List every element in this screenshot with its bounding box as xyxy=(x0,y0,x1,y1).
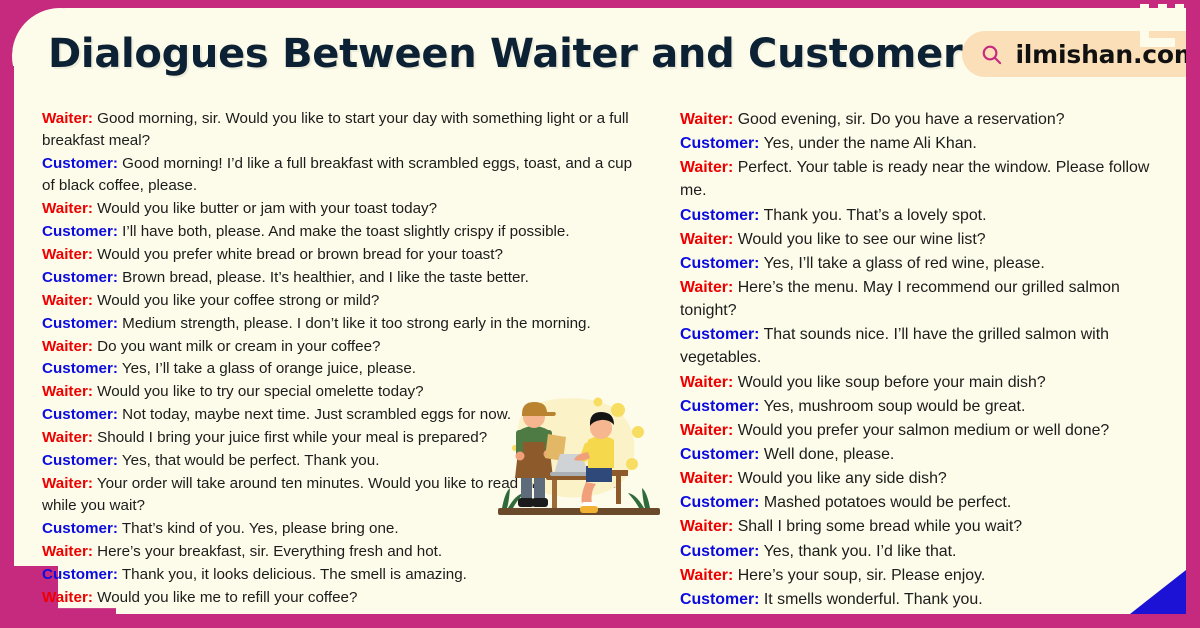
speaker-label-waiter: Waiter: xyxy=(42,292,93,309)
speaker-label-customer: Customer: xyxy=(42,155,118,172)
speaker-label-customer: Customer: xyxy=(42,223,118,240)
dialogue-line: Waiter: Would you prefer white bread or … xyxy=(42,244,640,266)
speaker-label-customer: Customer: xyxy=(680,255,759,272)
speaker-label-waiter: Waiter: xyxy=(42,246,93,263)
dialogue-line: Waiter: Would you like any side dish? xyxy=(680,467,1174,490)
dialogue-column-right: Waiter: Good evening, sir. Do you have a… xyxy=(650,100,1186,614)
dialogue-text: Yes, I’ll take a glass of red wine, plea… xyxy=(759,255,1044,272)
speaker-label-customer: Customer: xyxy=(680,398,759,415)
dialogue-line: Waiter: Would you like to see our wine l… xyxy=(680,228,1174,251)
dialogue-line: Customer: Brown bread, please. It’s heal… xyxy=(42,267,640,289)
dialogue-text: Perfect. Your table is ready near the wi… xyxy=(680,159,1149,199)
dialogue-line: Customer: I’ll have both, please. And ma… xyxy=(42,221,640,243)
dialogue-line: Customer: That sounds nice. I’ll have th… xyxy=(680,323,1174,369)
dialogue-line: Customer: That’s kind of you. Yes, pleas… xyxy=(42,518,640,540)
dialogue-text: Shall I bring some bread while you wait? xyxy=(733,518,1022,535)
dialogue-line: Customer: Yes, I’ll take a glass of red … xyxy=(680,252,1174,275)
dialogue-line: Customer: Mashed potatoes would be perfe… xyxy=(680,491,1174,514)
dialogue-text: Would you like soup before your main dis… xyxy=(733,374,1045,391)
speaker-label-customer: Customer: xyxy=(42,406,118,423)
speaker-label-waiter: Waiter: xyxy=(680,279,733,296)
dialogue-line: Customer: Thank you. That’s a lovely spo… xyxy=(680,204,1174,227)
ilmishan-logo-icon[interactable] xyxy=(1134,2,1192,54)
dialogue-text: Yes, I’ll take a glass of orange juice, … xyxy=(118,360,416,377)
dialogue-line: Waiter: Do you want milk or cream in you… xyxy=(42,336,640,358)
speaker-label-waiter: Waiter: xyxy=(680,518,733,535)
speaker-label-customer: Customer: xyxy=(42,566,118,583)
speaker-label-customer: Customer: xyxy=(680,494,759,511)
dialogue-text: Should I bring your juice first while yo… xyxy=(93,429,487,446)
dialogue-line: Customer: Yes, thank you. I’d like that. xyxy=(680,540,1174,563)
dialogue-line: Waiter: Should I bring your juice first … xyxy=(42,427,640,449)
speaker-label-customer: Customer: xyxy=(680,135,759,152)
dialogue-text: Would you like any side dish? xyxy=(733,470,946,487)
dialogue-text: I’ll have both, please. And make the toa… xyxy=(118,223,570,240)
speaker-label-waiter: Waiter: xyxy=(680,567,733,584)
speaker-label-waiter: Waiter: xyxy=(42,383,93,400)
dialogue-line: Waiter: Would you prefer your salmon med… xyxy=(680,419,1174,442)
dialogue-text: Here’s the menu. May I recommend our gri… xyxy=(680,279,1120,319)
speaker-label-customer: Customer: xyxy=(680,326,759,343)
dialogue-text: Yes, thank you. I’d like that. xyxy=(759,543,956,560)
poster-frame: Dialogues Between Waiter and Customer il… xyxy=(0,0,1200,628)
dialogue-text: Yes, please. Just half a cup this time.. xyxy=(118,612,376,614)
speaker-label-waiter: Waiter: xyxy=(42,338,93,355)
dialogue-text: Would you prefer white bread or brown br… xyxy=(93,246,503,263)
speaker-label-waiter: Waiter: xyxy=(42,429,93,446)
dialogue-line: Customer: Yes, please. Just half a cup t… xyxy=(42,610,640,614)
dialogue-body: Waiter: Good morning, sir. Would you lik… xyxy=(14,100,1186,614)
dialogue-text: Not today, maybe next time. Just scrambl… xyxy=(118,406,511,423)
dialogue-line: Waiter: Would you like me to refill your… xyxy=(42,587,640,609)
dialogue-line: Waiter: Good evening, sir. Do you have a… xyxy=(680,108,1174,131)
speaker-label-customer: Customer: xyxy=(680,446,759,463)
dialogue-line: Waiter: Here’s the menu. May I recommend… xyxy=(680,276,1174,322)
dialogue-line: Waiter: Your order will take around ten … xyxy=(42,473,640,517)
dialogue-text: Yes, under the name Ali Khan. xyxy=(759,135,976,152)
search-icon xyxy=(980,43,1003,66)
speaker-label-waiter: Waiter: xyxy=(680,231,733,248)
dialogue-column-left: Waiter: Good morning, sir. Would you lik… xyxy=(14,100,650,614)
dialogue-text: Good evening, sir. Do you have a reserva… xyxy=(733,111,1064,128)
page-title: Dialogues Between Waiter and Customer xyxy=(48,31,962,77)
dialogue-line: Waiter: Here’s your breakfast, sir. Ever… xyxy=(42,541,640,563)
speaker-label-waiter: Waiter: xyxy=(680,422,733,439)
speaker-label-waiter: Waiter: xyxy=(42,110,93,127)
dialogue-text: Do you want milk or cream in your coffee… xyxy=(93,338,381,355)
dialogue-text: Good morning, sir. Would you like to sta… xyxy=(42,110,629,149)
dialogue-line: Customer: Thank you, it looks delicious.… xyxy=(42,564,640,586)
content-panel: Dialogues Between Waiter and Customer il… xyxy=(14,8,1186,614)
speaker-label-waiter: Waiter: xyxy=(680,111,733,128)
dialogue-line: Waiter: Shall I bring some bread while y… xyxy=(680,515,1174,538)
dialogue-text: Would you like butter or jam with your t… xyxy=(93,200,437,217)
dialogue-text: It smells wonderful. Thank you. xyxy=(759,591,982,608)
dialogue-line: Waiter: Would you like your coffee stron… xyxy=(42,290,640,312)
dialogue-line: Waiter: Would you like butter or jam wit… xyxy=(42,198,640,220)
dialogue-text: Thank you, it looks delicious. The smell… xyxy=(118,566,467,583)
dialogue-text: Would you like me to refill your coffee? xyxy=(93,589,358,606)
dialogue-line: Customer: Well done, please. xyxy=(680,443,1174,466)
dialogue-line: Customer: Yes, mushroom soup would be gr… xyxy=(680,395,1174,418)
dialogue-line: Customer: It smells wonderful. Thank you… xyxy=(680,588,1174,611)
speaker-label-waiter: Waiter: xyxy=(42,543,93,560)
dialogue-text: Yes, that would be perfect. Thank you. xyxy=(118,452,379,469)
dialogue-text: That’s kind of you. Yes, please bring on… xyxy=(118,520,399,537)
dialogue-text: Thank you. That’s a lovely spot. xyxy=(759,207,986,224)
dialogue-line: Waiter: Here’s your soup, sir. Please en… xyxy=(680,564,1174,587)
speaker-label-customer: Customer: xyxy=(680,591,759,608)
speaker-label-customer: Customer: xyxy=(42,612,118,614)
dialogue-text: Here’s your soup, sir. Please enjoy. xyxy=(733,567,985,584)
speaker-label-waiter: Waiter: xyxy=(42,475,93,492)
speaker-label-customer: Customer: xyxy=(42,315,118,332)
speaker-label-customer: Customer: xyxy=(680,207,759,224)
dialogue-text: Medium strength, please. I don’t like it… xyxy=(118,315,591,332)
dialogue-text: Here’s your breakfast, sir. Everything f… xyxy=(93,543,442,560)
dialogue-text: Mashed potatoes would be perfect. xyxy=(759,494,1011,511)
dialogue-line: Customer: Good morning! I’d like a full … xyxy=(42,153,640,197)
dialogue-text: Would you prefer your salmon medium or w… xyxy=(733,422,1109,439)
speaker-label-waiter: Waiter: xyxy=(42,200,93,217)
speaker-label-customer: Customer: xyxy=(42,520,118,537)
dialogue-line: Customer: Medium strength, please. I don… xyxy=(42,313,640,335)
dialogue-text: Would you like your coffee strong or mil… xyxy=(93,292,379,309)
dialogue-text: Yes, mushroom soup would be great. xyxy=(759,398,1025,415)
dialogue-line: Customer: Yes, that would be perfect. Th… xyxy=(42,450,640,472)
dialogue-line: Waiter: Perfect. Your table is ready nea… xyxy=(680,156,1174,202)
speaker-label-waiter: Waiter: xyxy=(42,589,93,606)
speaker-label-customer: Customer: xyxy=(680,543,759,560)
dialogue-line: Customer: Yes, under the name Ali Khan. xyxy=(680,132,1174,155)
dialogue-text: Good morning! I’d like a full breakfast … xyxy=(42,155,632,194)
dialogue-text: Would you like to see our wine list? xyxy=(733,231,985,248)
speaker-label-customer: Customer: xyxy=(42,452,118,469)
speaker-label-customer: Customer: xyxy=(42,269,118,286)
dialogue-line: Waiter: Would you like soup before your … xyxy=(680,371,1174,394)
dialogue-text: Would you like to try our special omelet… xyxy=(93,383,424,400)
dialogue-line: Waiter: Would you like to try our specia… xyxy=(42,381,640,403)
speaker-label-waiter: Waiter: xyxy=(680,159,733,176)
speaker-label-customer: Customer: xyxy=(42,360,118,377)
speaker-label-waiter: Waiter: xyxy=(680,374,733,391)
dialogue-line: Waiter: Good morning, sir. Would you lik… xyxy=(42,108,640,152)
header-bar: Dialogues Between Waiter and Customer il… xyxy=(14,8,1186,100)
dialogue-line: Customer: Not today, maybe next time. Ju… xyxy=(42,404,640,426)
dialogue-text: Brown bread, please. It’s healthier, and… xyxy=(118,269,529,286)
speaker-label-waiter: Waiter: xyxy=(680,470,733,487)
dialogue-text: Your order will take around ten minutes.… xyxy=(42,475,622,514)
dialogue-line: Customer: Yes, I’ll take a glass of oran… xyxy=(42,358,640,380)
dialogue-line: Waiter: Here’s your main course — grille… xyxy=(680,612,1174,614)
dialogue-text: Well done, please. xyxy=(759,446,894,463)
